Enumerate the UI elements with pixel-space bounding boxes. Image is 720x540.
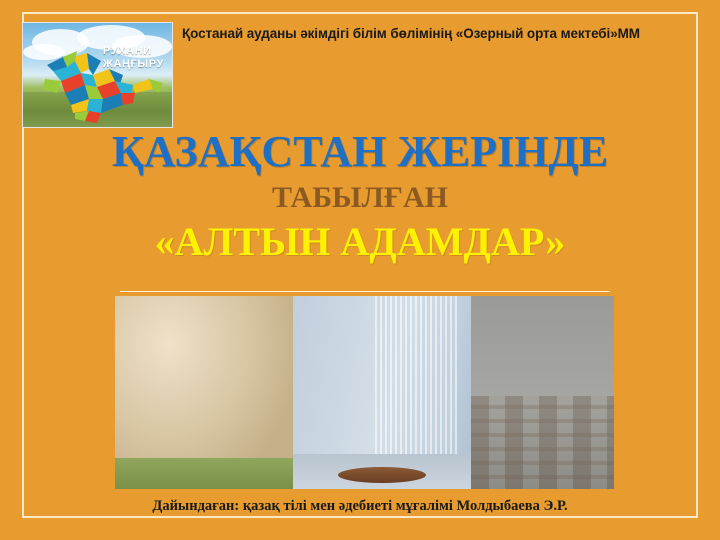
ruhani-zhangyru-bird-logo: РУХАНИ ЖАҢҒЫРУ [22, 22, 173, 128]
seated-golden-warrior-photo [115, 296, 293, 489]
title-line-1: ҚАЗАҚСТАН ЖЕРІНДЕ [22, 126, 698, 178]
school-name-heading: Қостанай ауданы әкімдігі білім бөлімінің… [182, 26, 698, 41]
logo-text-line1: РУХАНИ [103, 45, 164, 58]
title-divider-rule [120, 291, 610, 292]
title-line-3: «АЛТЫН АДАМДАР» [22, 218, 698, 266]
slide-title-block: ҚАЗАҚСТАН ЖЕРІНДЕ ТАБЫЛҒАН «АЛТЫН АДАМДА… [22, 126, 698, 266]
title-line-2: ТАБЫЛҒАН [22, 180, 698, 216]
author-credit: Дайындаған: қазақ тілі мен әдебиеті мұға… [22, 498, 698, 515]
logo-text-line2: ЖАҢҒЫРУ [103, 58, 164, 71]
slide-header: РУХАНИ ЖАҢҒЫРУ Қостанай ауданы әкімдігі … [22, 14, 698, 126]
standing-golden-man-museum-photo [293, 296, 471, 489]
photo-strip [115, 296, 614, 489]
golden-man-conical-headdress-photo [471, 296, 614, 489]
presentation-slide: РУХАНИ ЖАҢҒЫРУ Қостанай ауданы әкімдігі … [0, 0, 720, 540]
logo-text: РУХАНИ ЖАҢҒЫРУ [103, 45, 164, 71]
bird-mosaic-icon [23, 23, 173, 128]
